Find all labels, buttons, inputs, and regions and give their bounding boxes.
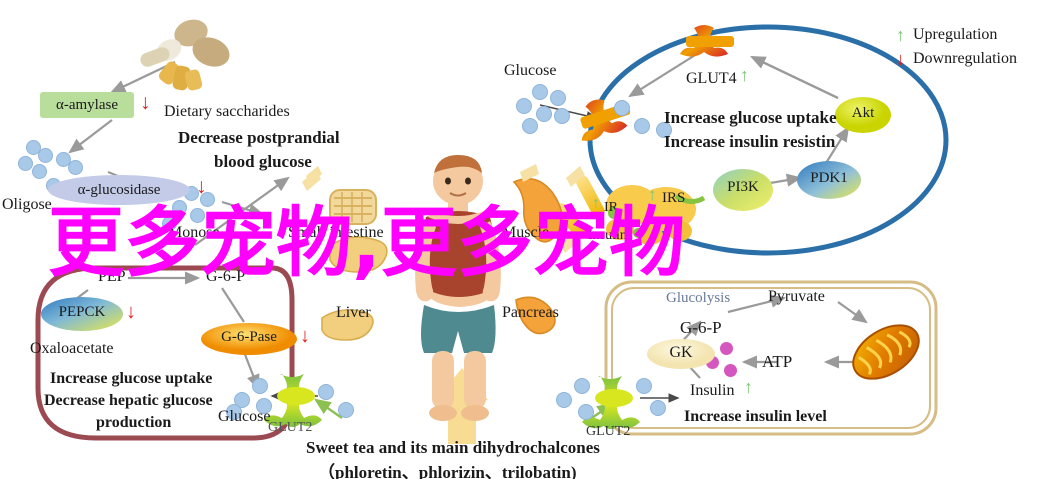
intestine-outcome-line2: blood glucose bbox=[214, 152, 312, 172]
dietary-saccharides-label: Dietary saccharides bbox=[164, 103, 290, 121]
legend: ↑ Upregulation ↓ Downregulation bbox=[896, 26, 1017, 68]
pepck-regulation-icon: ↓ bbox=[126, 302, 136, 322]
dietary-saccharides-photo bbox=[126, 14, 244, 96]
muscle-glucose-label: Glucose bbox=[504, 62, 556, 80]
obese-patient-illustration bbox=[398, 155, 518, 425]
diagram-canvas: α-amylase ↓ α-glucosidase ↓ PEPCK ↓ G-6-… bbox=[0, 0, 1044, 479]
insulin-regulation-icon: ↑ bbox=[744, 378, 753, 396]
pancreas-outcome: Increase insulin level bbox=[684, 408, 827, 426]
pi3k-label: PI3K bbox=[712, 179, 774, 196]
pancreas-organ-label: Pancreas bbox=[502, 304, 559, 322]
node-pdk1[interactable]: PDK1 bbox=[796, 160, 862, 205]
intestine-outcome-line1: Decrease postprandial bbox=[178, 128, 340, 148]
line-g6pase-leader bbox=[222, 288, 244, 322]
pancreas-atp-label: ATP bbox=[762, 352, 792, 372]
muscle-outcome-line1: Increase glucose uptake bbox=[664, 108, 837, 128]
legend-down-arrow-icon: ↓ bbox=[896, 50, 905, 68]
g6pase-label: G-6-Pase bbox=[200, 329, 298, 346]
pancreas-insulin-label: Insulin bbox=[690, 382, 734, 400]
pancreas-outside-glucose-cluster bbox=[556, 378, 610, 422]
alpha-amylase-regulation-icon: ↓ bbox=[140, 92, 151, 113]
liver-outcome-line3: production bbox=[96, 414, 171, 432]
enzyme-alpha-amylase[interactable]: α-amylase bbox=[40, 92, 134, 118]
glucolysis-label: Glucolysis bbox=[666, 290, 730, 307]
liver-outcome-line2: Decrease hepatic glucose bbox=[44, 392, 213, 410]
liver-glucose-label: Glucose bbox=[218, 408, 270, 426]
liver-oxaloacetate-label: Oxaloacetate bbox=[30, 340, 114, 358]
liver-organ-label: Liver bbox=[336, 304, 371, 322]
pepck-label: PEPCK bbox=[40, 304, 124, 321]
enzyme-g6pase[interactable]: G-6-Pase bbox=[200, 322, 298, 361]
oligose-label: Oligose bbox=[2, 196, 52, 214]
alpha-glucosidase-regulation-icon: ↓ bbox=[196, 176, 207, 197]
node-akt[interactable]: Akt bbox=[834, 96, 892, 139]
legend-upregulation-label: Upregulation bbox=[913, 26, 997, 44]
gk-label: GK bbox=[646, 344, 716, 362]
enzyme-pepck[interactable]: PEPCK bbox=[40, 296, 124, 337]
mitochondrion-icon bbox=[844, 314, 928, 389]
pancreas-g6p-label: G-6-P bbox=[680, 318, 722, 338]
pancreas-pyruvate-label: Pyruvate bbox=[768, 288, 825, 306]
glut4-regulation-icon: ↑ bbox=[740, 66, 749, 84]
arrow-akt-to-glut4-2 bbox=[752, 57, 838, 98]
muscle-extracellular-glucose-cluster bbox=[506, 84, 586, 138]
muscle-outcome-line2: Increase insulin resistin bbox=[664, 132, 835, 152]
enzyme-gk[interactable]: GK bbox=[646, 338, 716, 375]
akt-label: Akt bbox=[834, 105, 892, 122]
arrow-pyruvate-to-mito bbox=[838, 302, 866, 322]
watermark-text: 更多宠物,更多宠物 bbox=[48, 205, 685, 281]
glut4-label: GLUT4 bbox=[686, 70, 737, 88]
liver-outside-glucose-cluster bbox=[318, 384, 366, 424]
legend-up-arrow-icon: ↑ bbox=[896, 26, 905, 44]
figure-caption-line1: Sweet tea and its main dihydrochalcones bbox=[306, 438, 600, 458]
pancreas-inside-glucose-cluster bbox=[636, 378, 676, 420]
pdk1-label: PDK1 bbox=[796, 170, 862, 187]
glut2-liver-label: GLUT2 bbox=[268, 420, 312, 436]
liver-outcome-line1: Increase glucose uptake bbox=[50, 370, 212, 388]
figure-caption-line2: （phloretin、phlorizin、trilobatin) bbox=[318, 458, 577, 479]
g6pase-regulation-icon: ↓ bbox=[300, 326, 310, 346]
legend-downregulation-label: Downregulation bbox=[913, 50, 1017, 68]
node-pi3k[interactable]: PI3K bbox=[712, 168, 774, 217]
